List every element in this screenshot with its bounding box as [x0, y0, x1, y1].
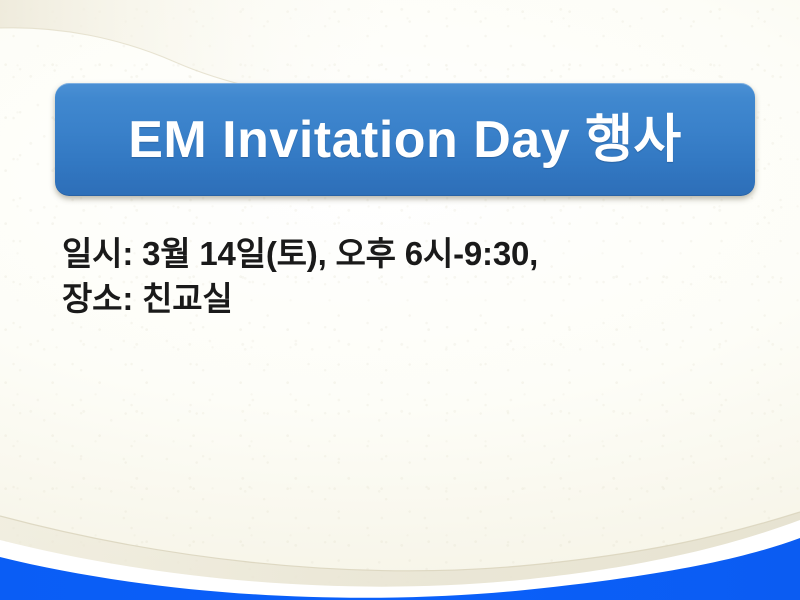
page-title: EM Invitation Day 행사 [128, 114, 682, 166]
event-details-block: 일시: 3월 14일(토), 오후 6시-9:30, 장소: 친교실 [62, 232, 752, 322]
slide: EM Invitation Day 행사 일시: 3월 14일(토), 오후 6… [0, 0, 800, 600]
title-banner: EM Invitation Day 행사 [55, 83, 755, 196]
event-location-line: 장소: 친교실 [62, 277, 752, 322]
event-datetime-line: 일시: 3월 14일(토), 오후 6시-9:30, [62, 232, 752, 277]
